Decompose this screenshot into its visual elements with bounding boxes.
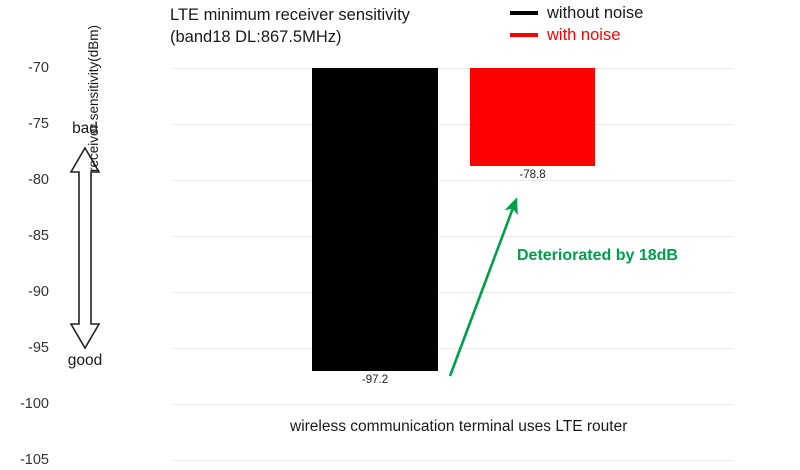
legend-swatch-black-icon [510,11,538,15]
y-tick-label: -85 [3,228,49,244]
sensitivity-direction-indicator: bad good receiver sensitivity(dBm) [40,120,160,380]
double-arrow-icon [69,146,101,350]
gridline [173,460,733,461]
gridline [173,68,733,69]
gridline [173,404,733,405]
legend-item-without-noise: without noise [510,2,790,24]
chart-screenshot: LTE minimum receiver sensitivity(band18 … [0,0,800,470]
gridline [173,124,733,125]
y-tick-label: -90 [3,284,49,300]
legend-item-with-noise: with noise [510,24,790,46]
gridline [173,236,733,237]
direction-label-good: good [40,352,130,370]
chart-legend: without noise with noise [510,2,790,46]
x-axis-caption: wireless communication terminal uses LTE… [290,418,627,436]
bar-value-without-noise: -97.2 [312,374,438,386]
y-axis-title: receiver sensitivity(dBm) [86,12,101,172]
bar-value-with-noise: -78.8 [470,169,595,181]
gridline [173,292,733,293]
annotation-text: Deteriorated by 18dB [517,247,678,265]
chart-title-line-1: LTE minimum receiver sensitivity [170,6,410,24]
bar-without-noise [312,68,438,371]
direction-label-bad: bad [40,120,130,138]
legend-label-with-noise: with noise [547,25,620,45]
legend-swatch-red-icon [510,33,538,37]
y-tick-label: -95 [3,340,49,356]
chart-title: LTE minimum receiver sensitivity(band18 … [170,4,500,48]
chart-title-line-2: (band18 DL:867.5MHz) [170,28,342,46]
y-tick-label: -70 [3,60,49,76]
y-tick-label: -75 [3,116,49,132]
legend-label-without-noise: without noise [547,3,643,23]
y-tick-label: -100 [3,396,49,412]
y-tick-label: -105 [3,452,49,468]
y-tick-label: -80 [3,172,49,188]
gridline [173,180,733,181]
bar-with-noise [470,68,595,166]
gridline [173,348,733,349]
